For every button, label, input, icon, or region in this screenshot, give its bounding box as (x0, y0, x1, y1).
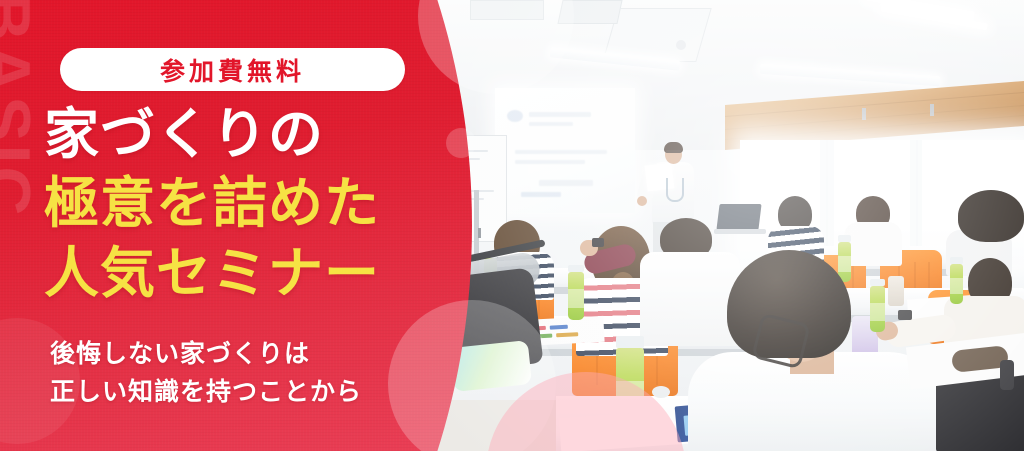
seminar-hero-banner: BASIC 参加費無料 家づくりの 極意を詰めた 人気セミナー 後悔しない家づく… (0, 0, 1024, 451)
subtitle-line-1: 後悔しない家づくりは (50, 335, 470, 373)
tea-bottle (568, 272, 584, 320)
presenter-glasses (666, 150, 681, 153)
headline-line-2: 極意を詰めた (44, 169, 464, 238)
ceiling-vent (557, 0, 622, 24)
subtitle-line-2: 正しい知識を持つことから (50, 373, 470, 411)
wristwatch (592, 238, 604, 247)
subtitle-group: 後悔しない家づくりは 正しい知識を持つことから (50, 335, 470, 410)
presenter-lanyard (666, 178, 684, 202)
beam-hook (930, 104, 934, 116)
tea-bottle (870, 286, 885, 332)
ceiling-sensor (676, 40, 686, 50)
headline-line-1: 家づくりの (44, 100, 464, 169)
beam-hook (862, 108, 866, 120)
tea-bottle (950, 264, 963, 304)
desk-item (652, 386, 670, 398)
attendee-torso (844, 222, 902, 266)
basic-watermark: BASIC (0, 0, 40, 219)
attendee-torso (640, 252, 740, 346)
headline-line-3: 人気セミナー (44, 239, 464, 308)
banner-content: BASIC 参加費無料 家づくりの 極意を詰めた 人気セミナー 後悔しない家づく… (0, 0, 520, 451)
laptop-screen (716, 204, 761, 230)
wristwatch (898, 310, 912, 320)
presenter-hand (637, 196, 647, 206)
paper-cup (888, 276, 904, 306)
pen (1000, 360, 1014, 390)
attendee-hair (958, 190, 1024, 242)
laptop-base (714, 229, 766, 234)
free-admission-badge-label: 参加費無料 (160, 52, 305, 88)
free-admission-badge: 参加費無料 (60, 48, 405, 91)
headline-group: 家づくりの 極意を詰めた 人気セミナー (44, 100, 464, 308)
